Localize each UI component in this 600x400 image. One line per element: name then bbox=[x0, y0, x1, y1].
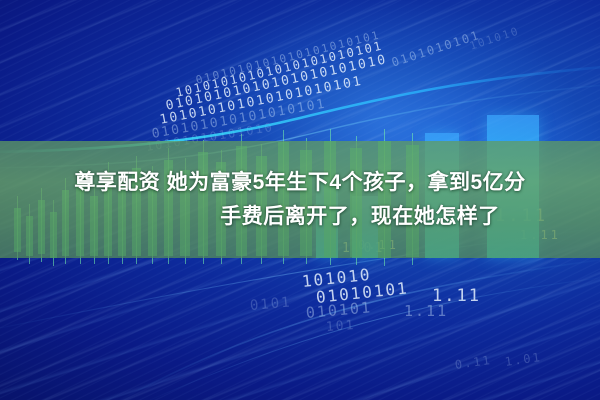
banner-image: 0101010101010101010101101010101010101010… bbox=[0, 0, 600, 400]
headline-line-2: 手费后离开了，现在她怎样了 bbox=[0, 200, 600, 233]
headline-line-1: 尊享配资 她为富豪5年生下4个孩子，拿到5亿分 bbox=[0, 166, 600, 199]
